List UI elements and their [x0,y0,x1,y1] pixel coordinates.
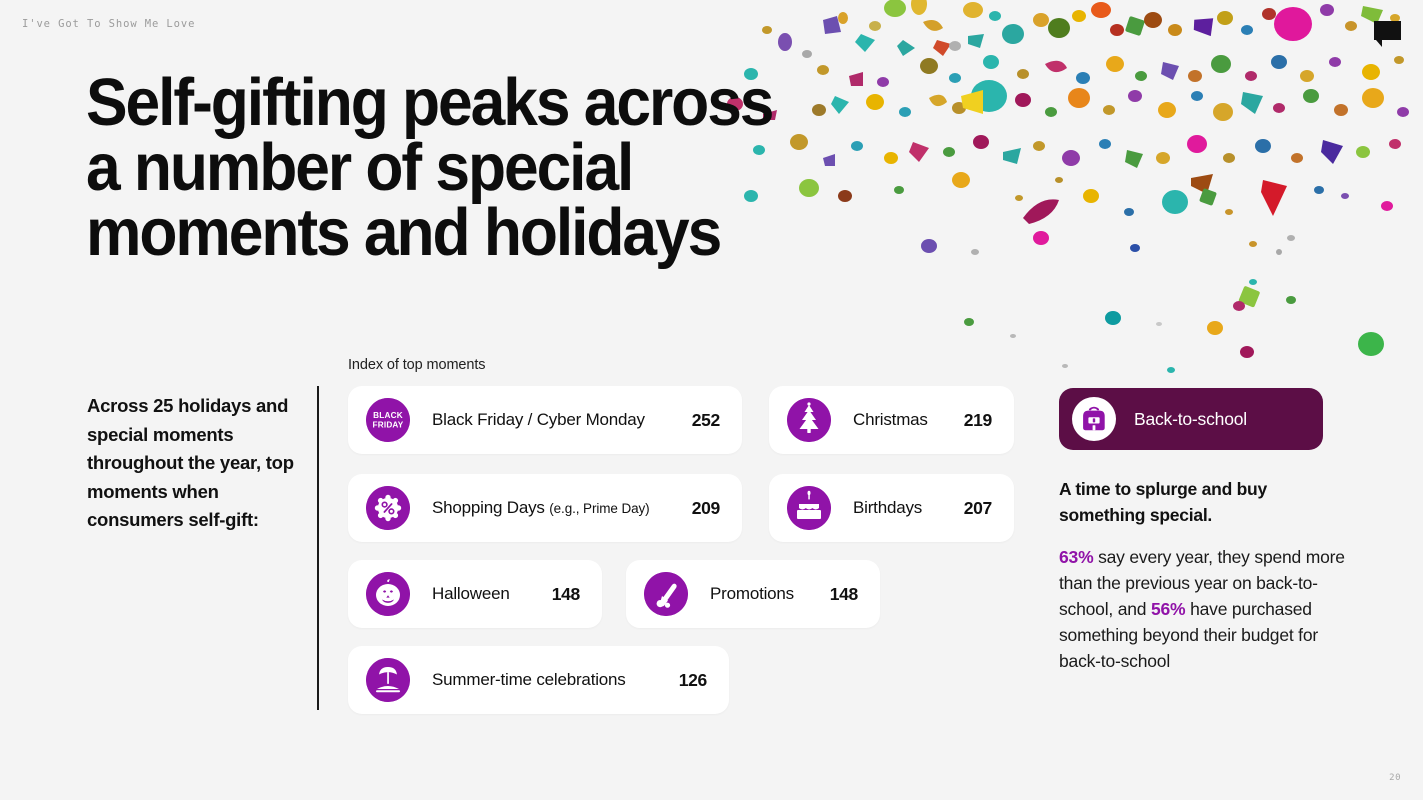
running-head: I've Got To Show Me Love [22,18,195,30]
slide: I've Got To Show Me Love Self-gifting pe… [0,0,1423,800]
page-number: 20 [1389,773,1401,783]
moment-card-summer-time[interactable]: Summer-time celebrations 126 [348,646,729,714]
page-title: Self-gifting peaks across a number of sp… [86,70,793,265]
index-label: Index of top moments [348,357,485,373]
moment-card-shopping-days[interactable]: Shopping Days (e.g., Prime Day) 209 [348,474,742,542]
moment-name: Christmas [853,410,928,430]
moment-name: Promotions [710,584,794,604]
stat-56: 56% [1151,599,1185,619]
moment-card-black-friday[interactable]: BLACK FRIDAY Black Friday / Cyber Monday… [348,386,742,454]
moment-card-birthdays[interactable]: Birthdays 207 [769,474,1014,542]
birthday-cake-icon [787,486,831,530]
svg-text:BLACK: BLACK [373,411,403,420]
christmas-tree-icon [787,398,831,442]
spotlight-headline: A time to splurge and buy something spec… [1059,476,1327,528]
moment-value: 219 [964,410,992,431]
megaphone-icon [644,572,688,616]
moment-value: 148 [552,584,580,605]
moment-card-halloween[interactable]: Halloween 148 [348,560,602,628]
moment-name: Summer-time celebrations [432,670,626,690]
backpack-icon [1072,397,1116,441]
chat-bubble-logo-icon [1373,20,1402,49]
vertical-divider [317,386,319,710]
moment-name: Halloween [432,584,510,604]
moment-value: 209 [692,498,720,519]
moment-name: Birthdays [853,498,922,518]
pumpkin-icon [366,572,410,616]
moment-card-promotions[interactable]: Promotions 148 [626,560,880,628]
spotlight-panel: Back-to-school A time to splurge and buy… [1059,388,1349,674]
title-line-2: a number of special [86,135,793,200]
moments-card-grid: BLACK FRIDAY Black Friday / Cyber Monday… [348,386,1028,716]
intro-text: Across 25 holidays and special moments t… [87,392,309,535]
title-line-1: Self-gifting peaks across [86,70,793,135]
moment-value: 252 [692,410,720,431]
black-friday-icon: BLACK FRIDAY [366,398,410,442]
moment-name: Black Friday / Cyber Monday [432,410,645,430]
moment-value: 207 [964,498,992,519]
confetti-decoration [723,0,1423,380]
back-to-school-label: Back-to-school [1134,409,1247,430]
moment-name: Shopping Days (e.g., Prime Day) [432,498,650,518]
discount-tag-icon [366,486,410,530]
svg-text:FRIDAY: FRIDAY [373,421,404,430]
moment-value: 148 [830,584,858,605]
moment-card-christmas[interactable]: Christmas 219 [769,386,1014,454]
title-line-3: moments and holidays [86,200,793,265]
beach-umbrella-icon [366,658,410,702]
moment-value: 126 [679,670,707,691]
stat-63: 63% [1059,547,1093,567]
back-to-school-badge[interactable]: Back-to-school [1059,388,1323,450]
spotlight-body: 63% say every year, they spend more than… [1059,544,1351,674]
